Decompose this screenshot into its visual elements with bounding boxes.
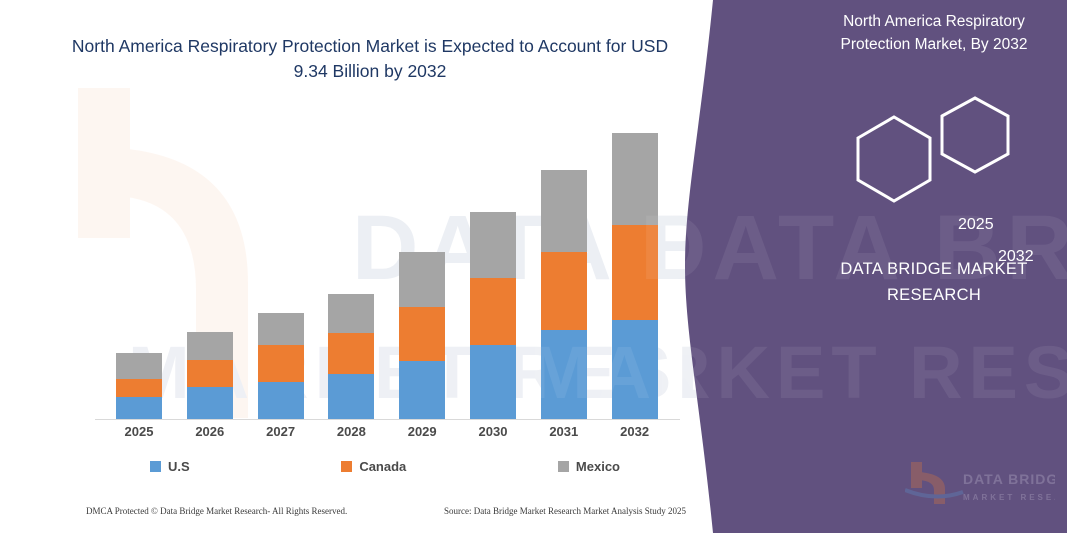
bar-segment-canada-2025 — [116, 379, 162, 396]
legend-label-us: U.S — [168, 459, 190, 474]
x-axis-labels: 20252026202720282029203020312032 — [95, 424, 680, 446]
footer-source: Source: Data Bridge Market Research Mark… — [444, 506, 686, 516]
bar-segment-canada-2032 — [612, 225, 658, 320]
bar-segment-us-2026 — [187, 387, 233, 419]
bar-segment-canada-2026 — [187, 360, 233, 387]
brand-logo-watermark: DATA BRIDGE MARKET RESEARCH — [905, 460, 1055, 506]
bar-segment-mexico-2026 — [187, 332, 233, 360]
bar-segment-canada-2030 — [470, 278, 516, 346]
bar-2031 — [541, 170, 587, 419]
bar-2029 — [399, 252, 445, 419]
legend-item-us[interactable]: U.S — [150, 459, 190, 474]
legend-label-canada: Canada — [359, 459, 406, 474]
bar-segment-mexico-2031 — [541, 170, 587, 251]
bar-segment-mexico-2025 — [116, 353, 162, 380]
legend-label-mexico: Mexico — [576, 459, 620, 474]
bar-segment-mexico-2027 — [258, 313, 304, 345]
x-axis-label-2025: 2025 — [116, 424, 162, 439]
x-axis-label-2031: 2031 — [541, 424, 587, 439]
hexagon-badges: 2025 2032 — [810, 88, 1058, 208]
svg-text:DATA BRIDGE: DATA BRIDGE — [963, 471, 1055, 487]
x-axis-label-2026: 2026 — [187, 424, 233, 439]
x-axis-label-2028: 2028 — [328, 424, 374, 439]
hexagon-label-2025: 2025 — [958, 216, 994, 234]
bar-2032 — [612, 133, 658, 419]
x-axis-label-2032: 2032 — [612, 424, 658, 439]
x-axis-line — [95, 419, 680, 420]
bar-2030 — [470, 212, 516, 419]
bar-segment-us-2030 — [470, 345, 516, 419]
bar-segment-canada-2028 — [328, 333, 374, 374]
panel-watermark-1: DATA BRI — [640, 196, 1067, 301]
legend-item-canada[interactable]: Canada — [341, 459, 406, 474]
legend-swatch-canada — [341, 461, 352, 472]
chart-legend: U.SCanadaMexico — [150, 455, 620, 477]
bar-2026 — [187, 332, 233, 419]
bar-segment-mexico-2028 — [328, 294, 374, 334]
page-title: North America Respiratory Protection Mar… — [60, 34, 680, 84]
legend-swatch-mexico — [558, 461, 569, 472]
x-axis-label-2030: 2030 — [470, 424, 516, 439]
x-axis-label-2027: 2027 — [258, 424, 304, 439]
brand-name: DATA BRIDGE MARKET RESEARCH — [810, 256, 1058, 308]
svg-text:MARKET RESEARCH: MARKET RESEARCH — [963, 493, 1055, 502]
bar-segment-us-2028 — [328, 374, 374, 419]
legend-swatch-us — [150, 461, 161, 472]
bar-segment-mexico-2030 — [470, 212, 516, 277]
bar-segment-canada-2031 — [541, 252, 587, 330]
bar-2027 — [258, 313, 304, 419]
bar-segment-canada-2027 — [258, 345, 304, 381]
bar-2025 — [116, 353, 162, 419]
bar-segment-us-2031 — [541, 330, 587, 419]
chart-plot-area — [95, 120, 680, 420]
legend-item-mexico[interactable]: Mexico — [558, 459, 620, 474]
bar-segment-mexico-2029 — [399, 252, 445, 307]
footer-copyright: DMCA Protected © Data Bridge Market Rese… — [86, 506, 347, 516]
bar-segment-us-2025 — [116, 397, 162, 420]
hexagon-outline-2032 — [858, 117, 930, 201]
x-axis-label-2029: 2029 — [399, 424, 445, 439]
bar-segment-canada-2029 — [399, 307, 445, 362]
footer: DMCA Protected © Data Bridge Market Rese… — [86, 506, 686, 516]
bar-segment-mexico-2032 — [612, 133, 658, 225]
bar-segment-us-2027 — [258, 382, 304, 420]
bar-segment-us-2032 — [612, 320, 658, 419]
bar-chart — [95, 120, 680, 420]
hexagon-label-2032: 2032 — [998, 248, 1034, 266]
panel-title: North America Respiratory Protection Mar… — [810, 10, 1058, 56]
bar-2028 — [328, 294, 374, 419]
hexagon-outline-2025 — [942, 98, 1008, 172]
infographic-root: DATA BRI MARKET RESEARCH North America R… — [0, 0, 1067, 533]
bar-segment-us-2029 — [399, 361, 445, 419]
brand-panel: DATA BRI MARKET RESEARCH North America R… — [660, 0, 1067, 533]
